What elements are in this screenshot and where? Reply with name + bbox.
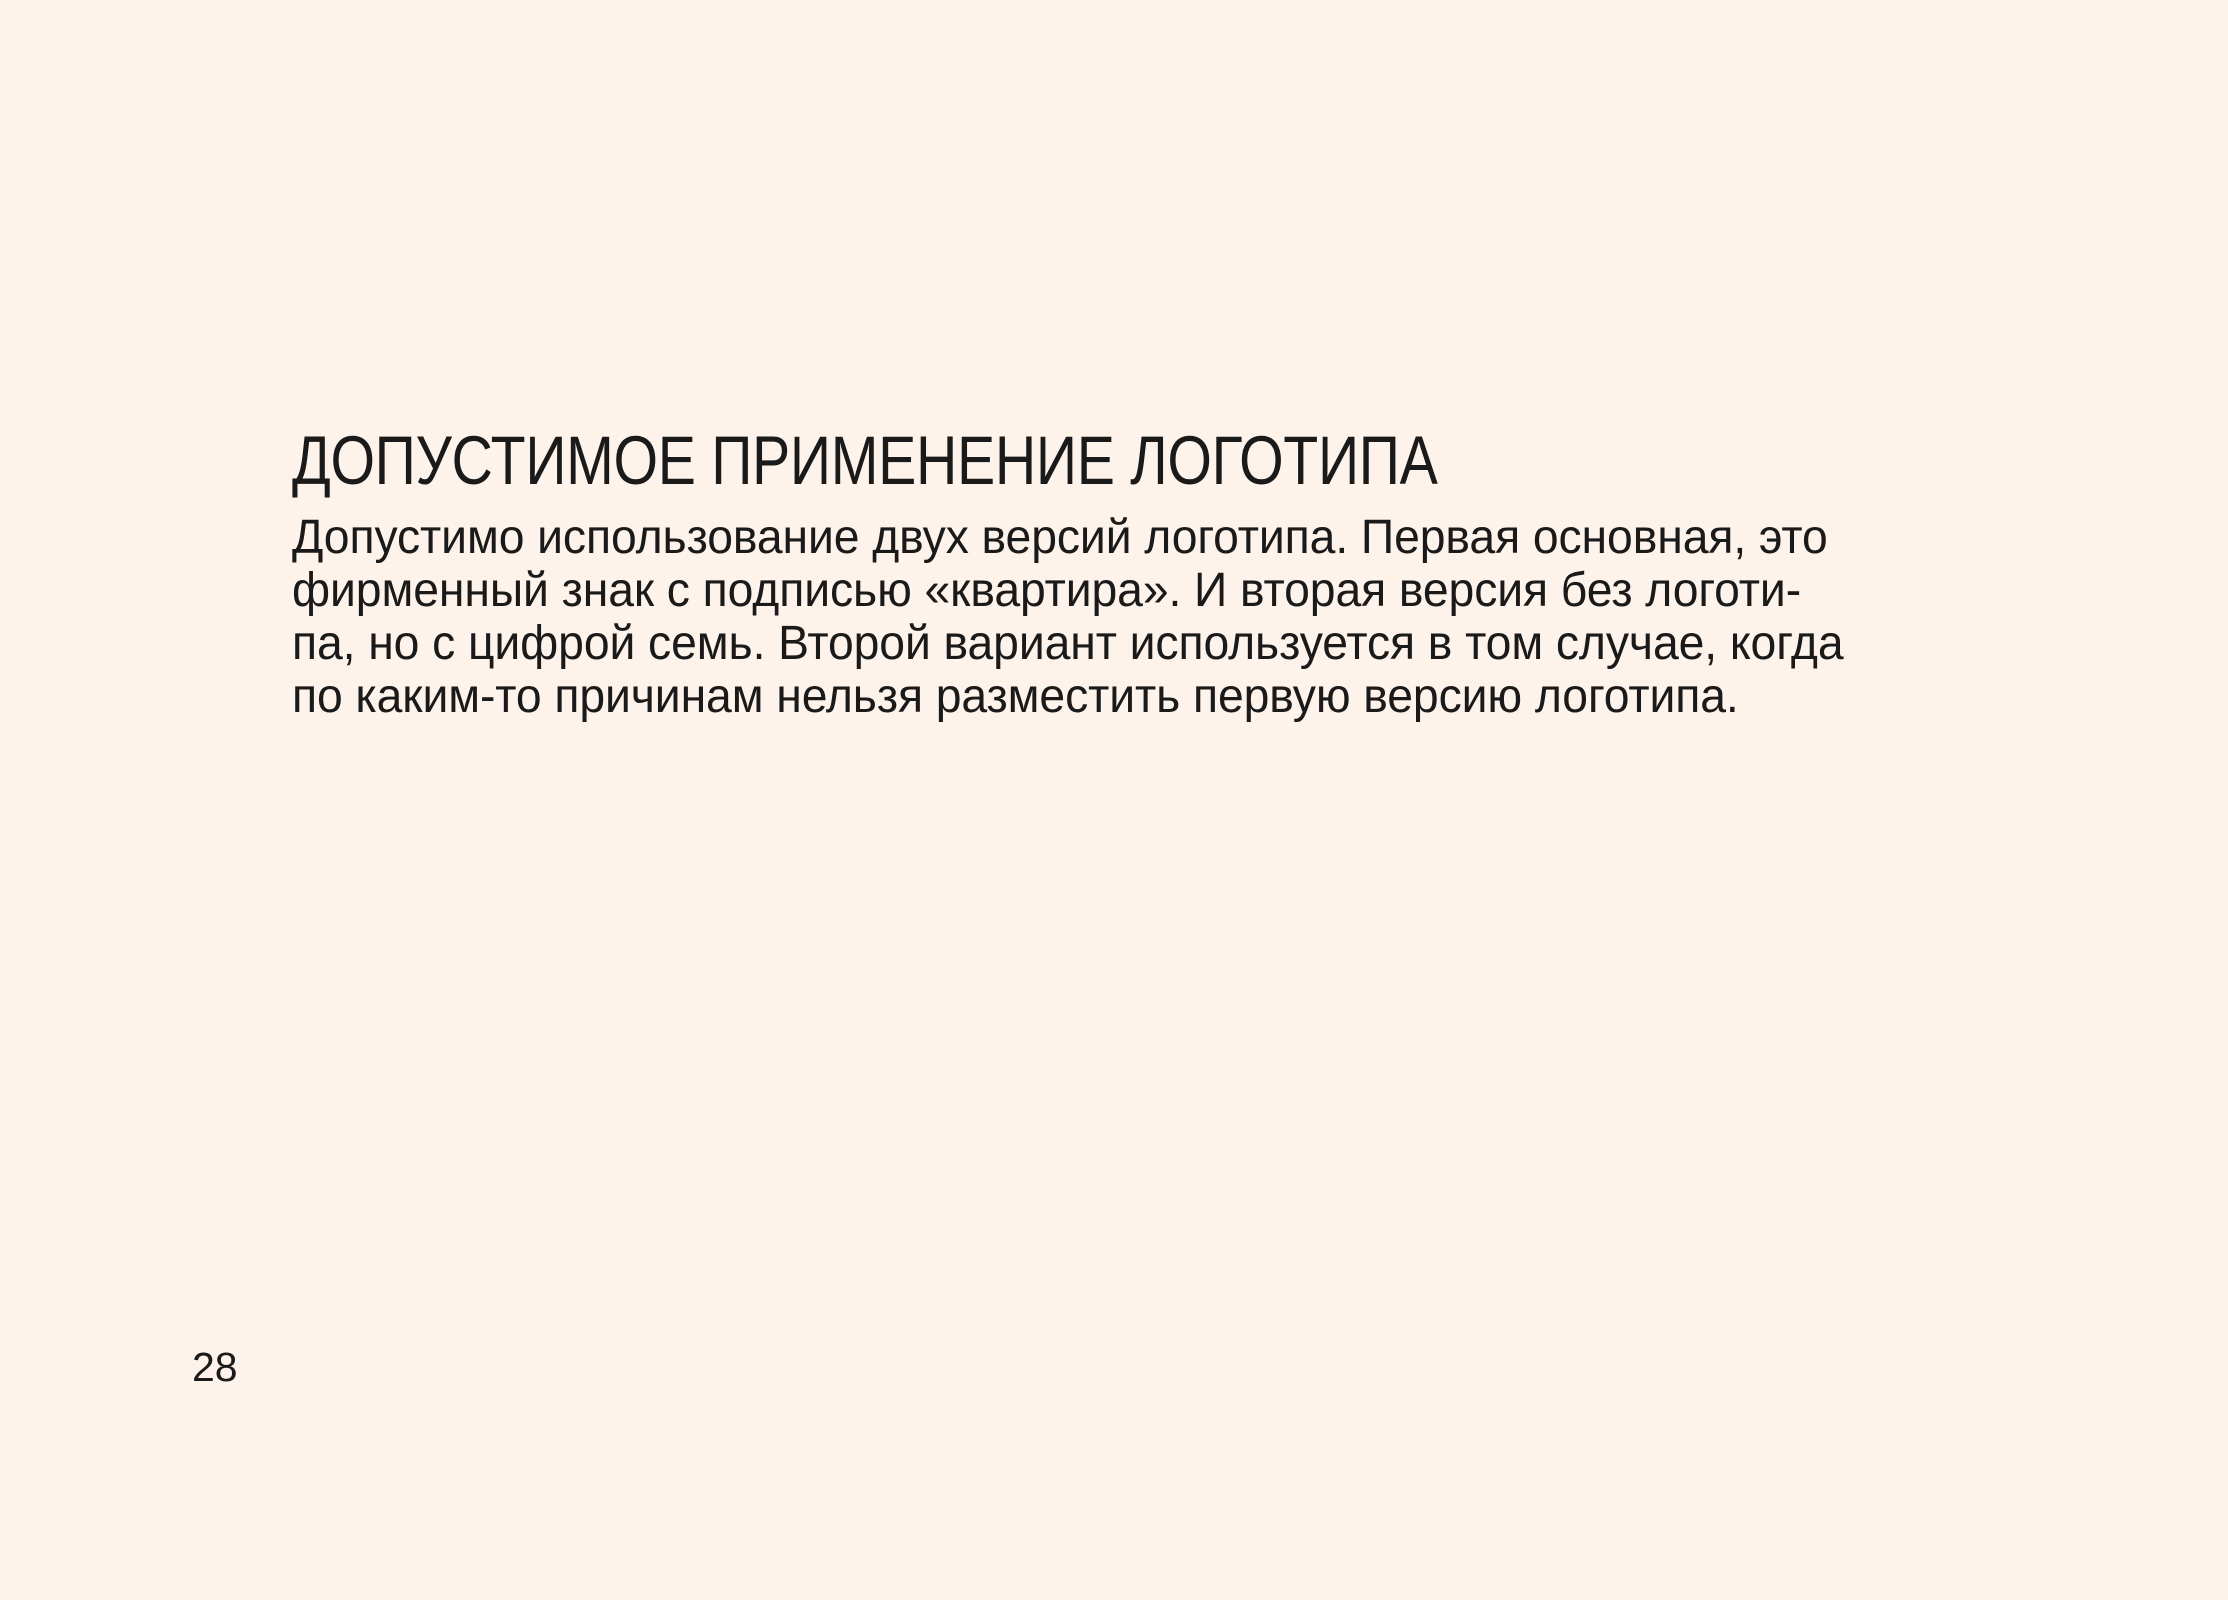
body-line: по каким-то причинам нельзя разместить п… bbox=[292, 670, 1633, 723]
body-line: фирменный знак с подписью «квартира». И … bbox=[292, 564, 1633, 617]
page-number: 28 bbox=[192, 1344, 238, 1390]
body-paragraph: Допустимо использование двух версий лого… bbox=[292, 498, 1633, 723]
body-line: па, но с цифрой семь. Второй вариант исп… bbox=[292, 617, 1633, 670]
content-block: ДОПУСТИМОЕ ПРИМЕНЕНИЕ ЛОГОТИПА Допустимо… bbox=[292, 424, 1682, 723]
body-line: Допустимо использование двух версий лого… bbox=[292, 511, 1633, 564]
slide-page: ДОПУСТИМОЕ ПРИМЕНЕНИЕ ЛОГОТИПА Допустимо… bbox=[0, 0, 2228, 1600]
page-title: ДОПУСТИМОЕ ПРИМЕНЕНИЕ ЛОГОТИПА bbox=[292, 424, 1446, 498]
